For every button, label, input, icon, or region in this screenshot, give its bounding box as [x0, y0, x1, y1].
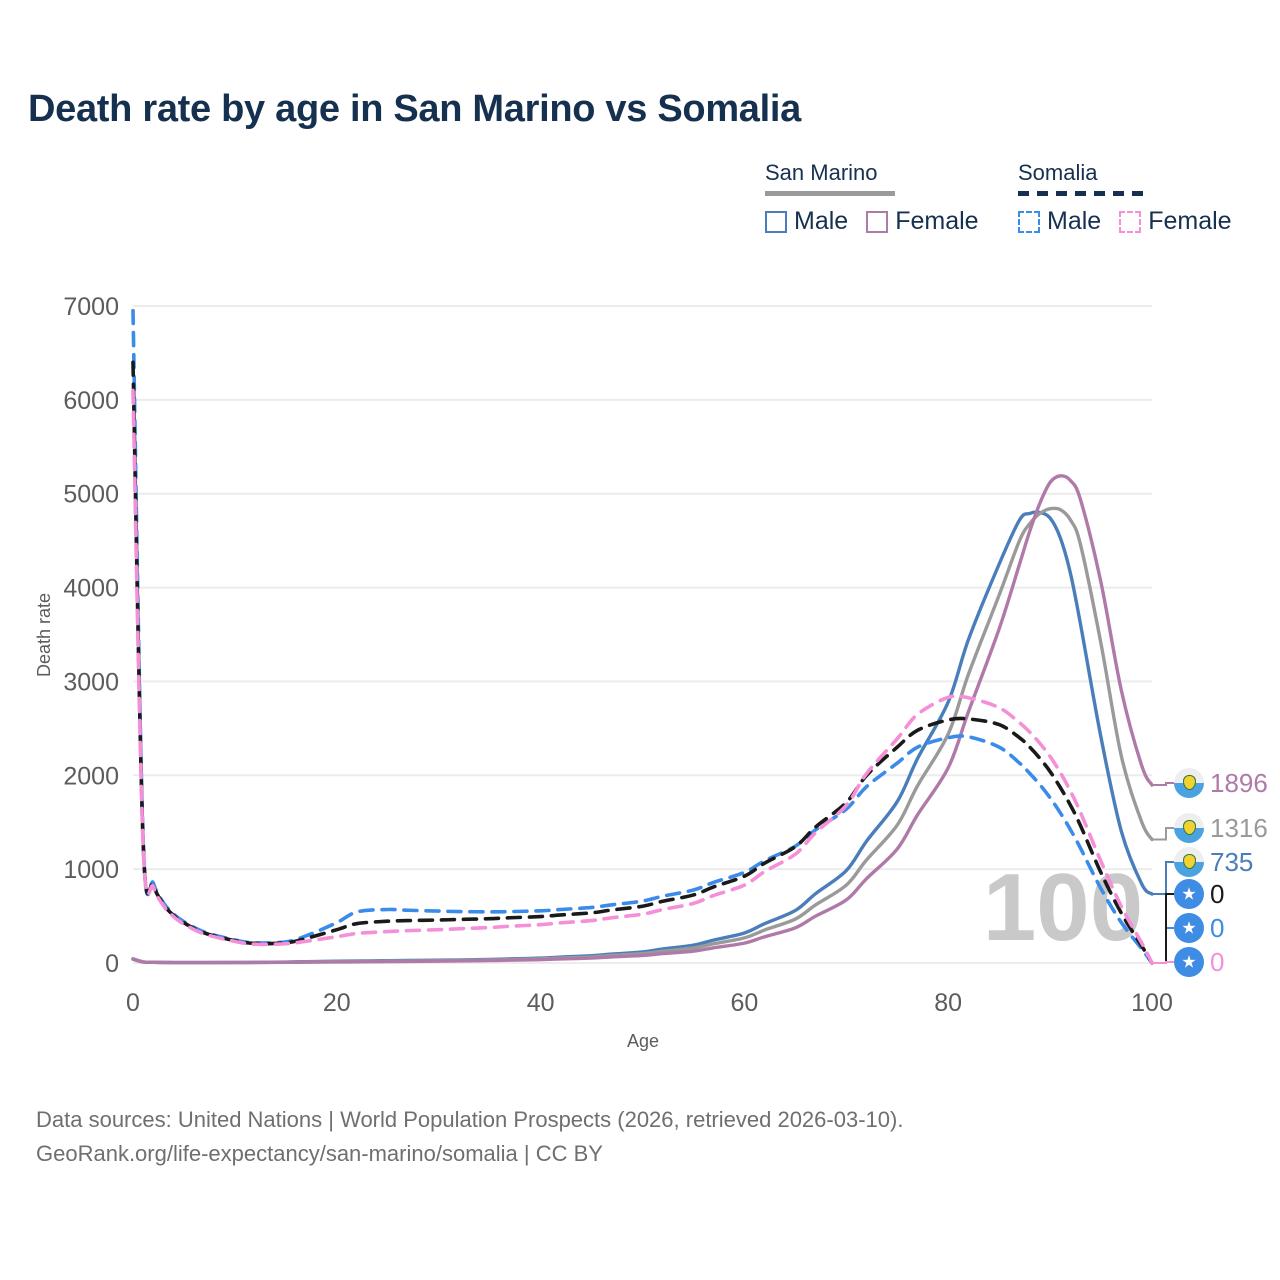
x-tick-label: 80 — [934, 989, 962, 1017]
x-tick-label: 20 — [323, 989, 351, 1017]
series-end-value: 0 — [1210, 913, 1224, 944]
series-end-label: 1316 — [1174, 811, 1268, 845]
series-end-value: 1316 — [1210, 813, 1268, 844]
y-tick-label: 1000 — [63, 856, 119, 884]
series-end-label: 735 — [1174, 845, 1253, 879]
somalia-flag-icon — [1174, 913, 1204, 943]
chart-container: Death rate by age in San Marino vs Somal… — [0, 0, 1280, 1280]
plot-area: 01000200030004000500060007000 0204060801… — [0, 0, 1280, 1080]
x-tick-label: 60 — [730, 989, 758, 1017]
san-marino-flag-icon — [1174, 847, 1204, 877]
series-end-value: 0 — [1210, 947, 1224, 978]
footer-note: Data sources: United Nations | World Pop… — [36, 1103, 903, 1171]
y-axis-title: Death rate — [34, 593, 54, 677]
y-tick-label: 3000 — [63, 668, 119, 696]
x-tick-label: 40 — [527, 989, 555, 1017]
series-end-value: 1896 — [1210, 768, 1268, 799]
y-tick-label: 7000 — [63, 293, 119, 321]
y-tick-label: 0 — [105, 950, 119, 978]
series-end-value: 0 — [1210, 879, 1224, 910]
footer-line-2: GeoRank.org/life-expectancy/san-marino/s… — [36, 1137, 903, 1171]
x-tick-label: 0 — [126, 989, 140, 1017]
footer-line-1: Data sources: United Nations | World Pop… — [36, 1103, 903, 1137]
x-axis-title: Age — [627, 1031, 659, 1051]
series-end-label: 0 — [1174, 945, 1224, 979]
series-end-value: 735 — [1210, 847, 1253, 878]
series-end-labels: 18961316735000 — [1152, 300, 1280, 1000]
x-axis-tick-labels: 020406080100 — [126, 989, 1173, 1017]
y-tick-label: 6000 — [63, 387, 119, 415]
y-tick-label: 2000 — [63, 762, 119, 790]
san-marino-flag-icon — [1174, 768, 1204, 798]
series-end-label: 1896 — [1174, 766, 1268, 800]
somalia-flag-icon — [1174, 947, 1204, 977]
y-axis-tick-labels: 01000200030004000500060007000 — [63, 293, 119, 978]
san-marino-flag-icon — [1174, 813, 1204, 843]
series-end-label: 0 — [1174, 911, 1224, 945]
y-tick-label: 5000 — [63, 481, 119, 509]
y-tick-label: 4000 — [63, 575, 119, 603]
series-end-label: 0 — [1174, 877, 1224, 911]
somalia-flag-icon — [1174, 879, 1204, 909]
